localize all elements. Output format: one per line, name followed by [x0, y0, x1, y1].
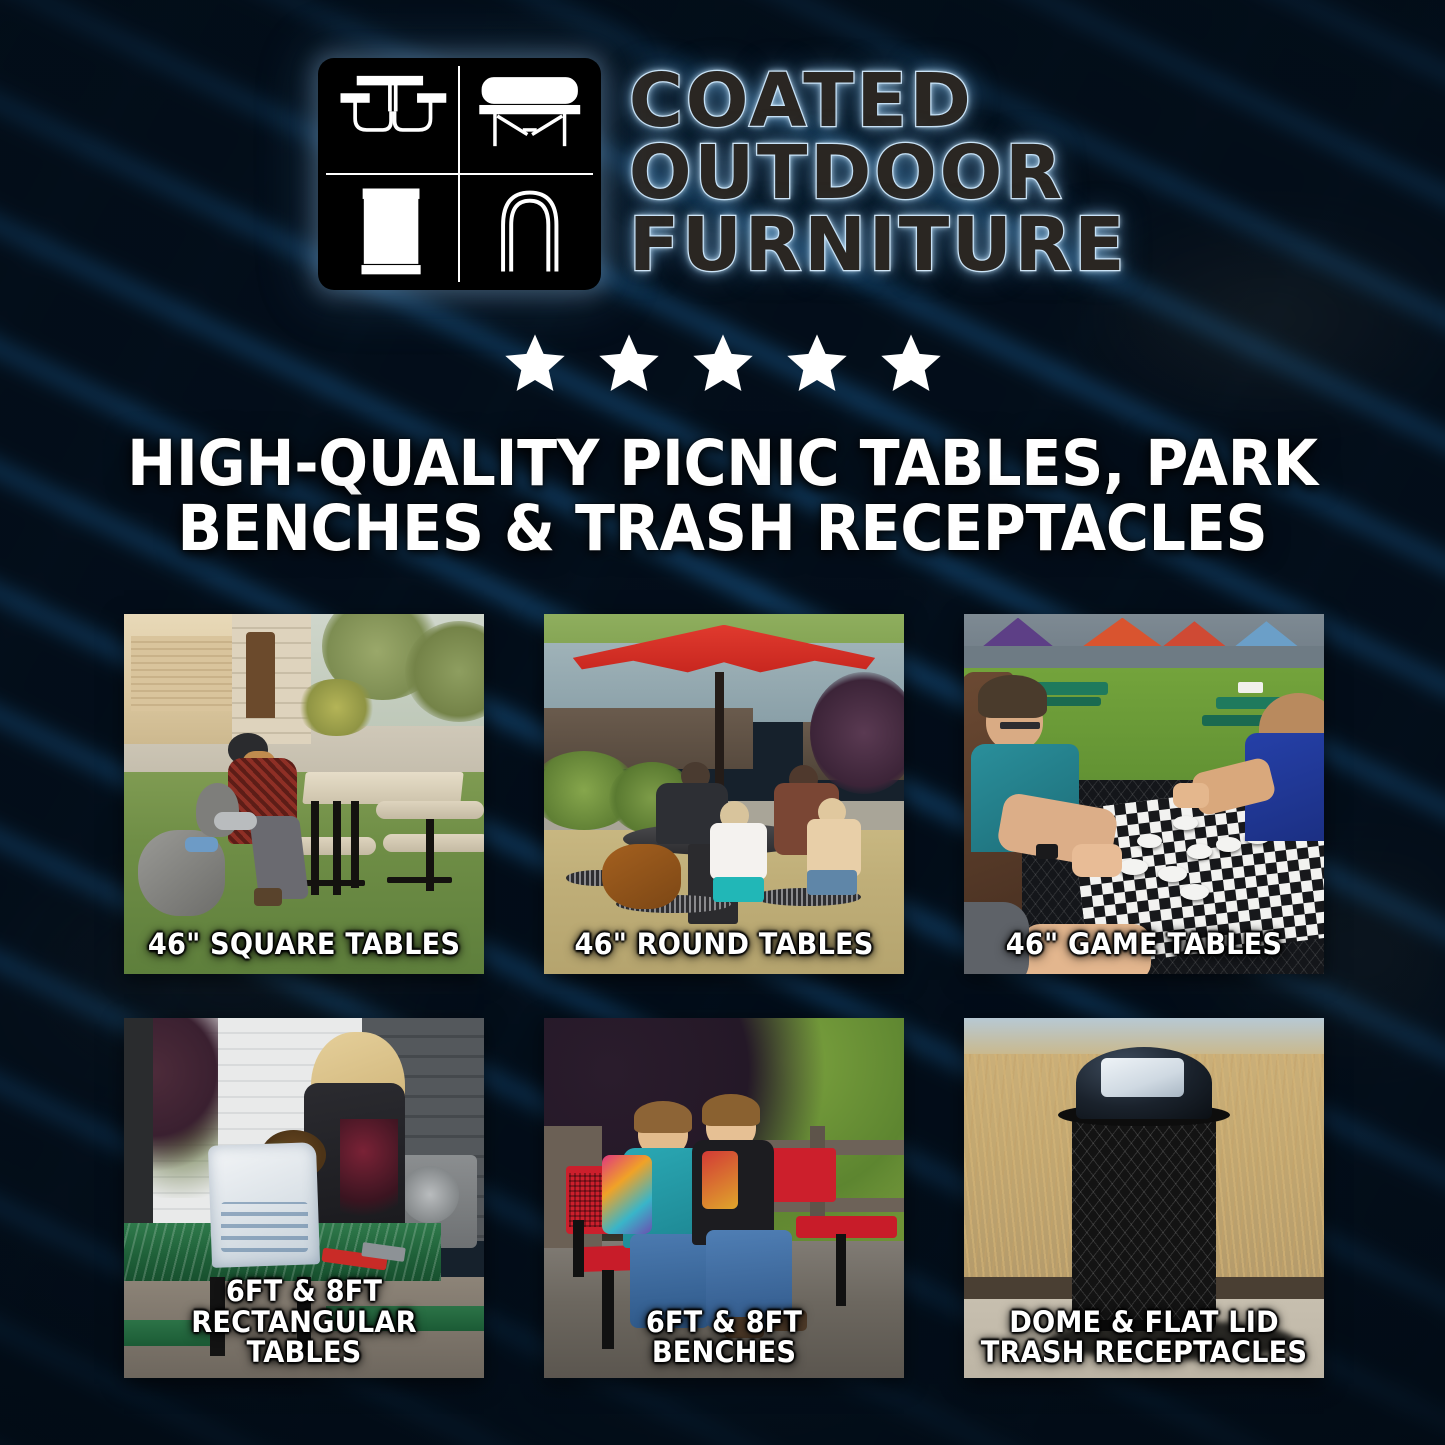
- caption-line: BENCHES: [555, 1337, 893, 1368]
- star-rating: [0, 330, 1445, 396]
- headline-line-1: HIGH-QUALITY PICNIC TABLES, PARK: [116, 432, 1330, 497]
- product-photo-square-tables: [124, 614, 484, 974]
- bench-table-side-icon: [459, 58, 601, 174]
- product-caption-trash-receptacles: DOME & FLAT LID TRASH RECEPTACLES: [975, 1307, 1313, 1368]
- caption-line: 46" SQUARE TABLES: [135, 929, 473, 960]
- star-icon: [689, 330, 757, 396]
- product-grid: 46" SQUARE TABLES: [124, 614, 1323, 1378]
- product-photo-game-tables: [964, 614, 1324, 974]
- brand-wordmark: COATED OUTDOOR FURNITURE: [629, 66, 1128, 283]
- product-caption-square-tables: 46" SQUARE TABLES: [135, 929, 473, 960]
- product-photo-round-tables: [544, 614, 904, 974]
- product-card-rectangular-tables[interactable]: 6FT & 8FT RECTANGULAR TABLES: [124, 1018, 484, 1378]
- product-card-trash-receptacles[interactable]: DOME & FLAT LID TRASH RECEPTACLES: [964, 1018, 1324, 1378]
- product-caption-rectangular-tables: 6FT & 8FT RECTANGULAR TABLES: [135, 1276, 473, 1368]
- brand-name-line-1: COATED: [629, 66, 1128, 136]
- star-icon: [783, 330, 851, 396]
- star-icon: [501, 330, 569, 396]
- trash-receptacle-icon: [318, 174, 460, 290]
- brand-name-line-2: OUTDOOR: [629, 138, 1128, 208]
- caption-line: DOME & FLAT LID: [975, 1307, 1313, 1338]
- caption-line: RECTANGULAR TABLES: [135, 1307, 473, 1368]
- brand-logo: COATED OUTDOOR FURNITURE: [0, 58, 1445, 290]
- product-caption-benches: 6FT & 8FT BENCHES: [555, 1307, 893, 1368]
- bike-rack-arch-icon: [459, 174, 601, 290]
- brand-name-line-3: FURNITURE: [629, 210, 1128, 280]
- headline-line-2: BENCHES & TRASH RECEPTACLES: [116, 497, 1330, 562]
- product-caption-game-tables: 46" GAME TABLES: [975, 929, 1313, 960]
- caption-line: TRASH RECEPTACLES: [975, 1337, 1313, 1368]
- product-card-game-tables[interactable]: 46" GAME TABLES: [964, 614, 1324, 974]
- logo-icon-grid: [318, 58, 601, 290]
- caption-line: 6FT & 8FT: [555, 1307, 893, 1338]
- product-caption-round-tables: 46" ROUND TABLES: [555, 929, 893, 960]
- headline: HIGH-QUALITY PICNIC TABLES, PARK BENCHES…: [116, 432, 1330, 562]
- caption-line: 46" ROUND TABLES: [555, 929, 893, 960]
- product-card-square-tables[interactable]: 46" SQUARE TABLES: [124, 614, 484, 974]
- picnic-table-front-icon: [318, 58, 460, 174]
- star-icon: [595, 330, 663, 396]
- product-card-benches[interactable]: 6FT & 8FT BENCHES: [544, 1018, 904, 1378]
- caption-line: 6FT & 8FT: [135, 1276, 473, 1307]
- star-icon: [877, 330, 945, 396]
- caption-line: 46" GAME TABLES: [975, 929, 1313, 960]
- logo-divider-horizontal: [326, 173, 593, 175]
- product-card-round-tables[interactable]: 46" ROUND TABLES: [544, 614, 904, 974]
